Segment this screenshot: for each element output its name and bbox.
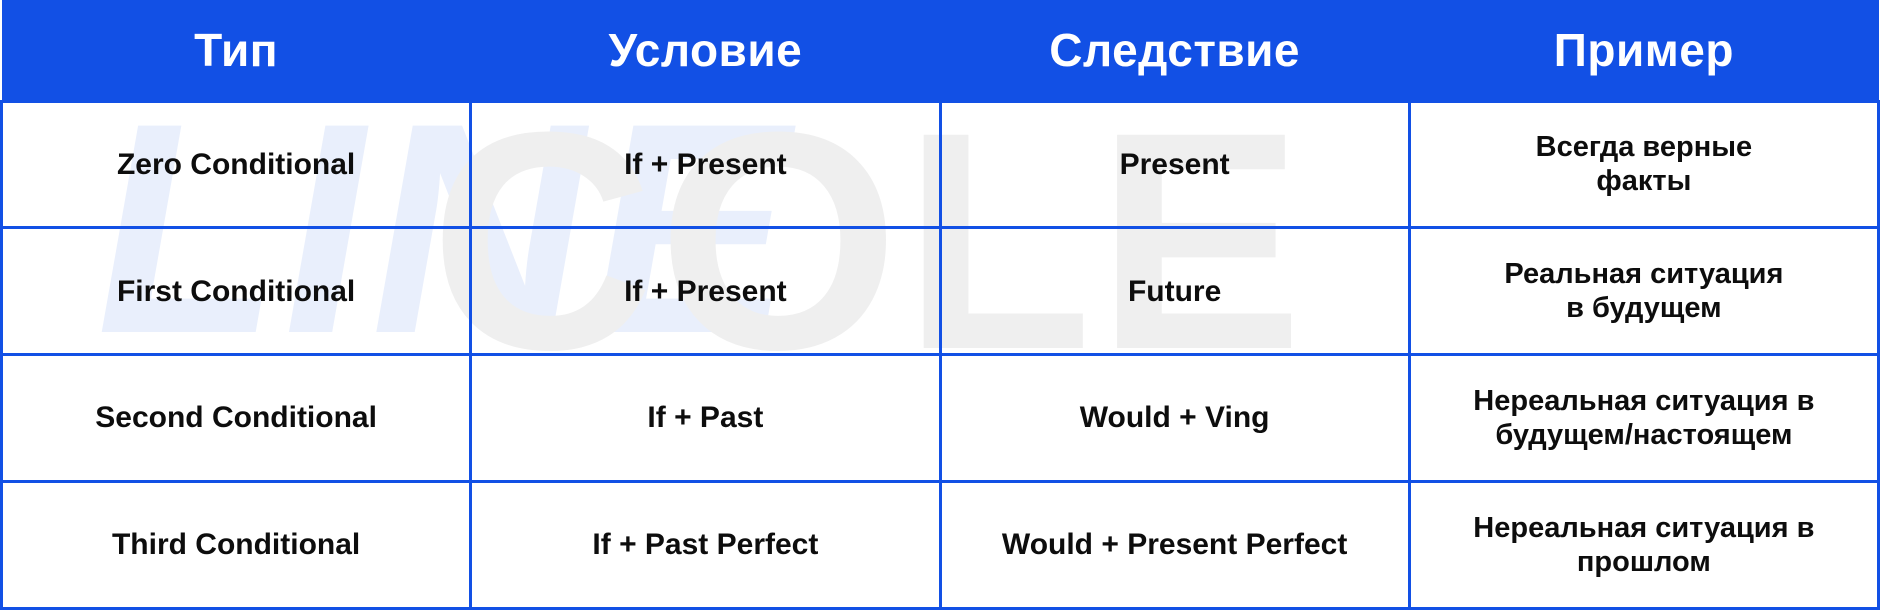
column-header-type: Тип (2, 0, 471, 101)
table-row: Second Conditional If + Past Would + Vin… (2, 355, 1879, 482)
cell-example-line-2: в будущем (1421, 291, 1867, 325)
cell-condition: If + Present (471, 228, 940, 355)
cell-example-line-2: прошлом (1421, 545, 1867, 579)
cell-type: Zero Conditional (2, 101, 471, 228)
table-header: Тип Условие Следствие Пример (2, 0, 1879, 101)
cell-example-line-1: Нереальная ситуация в (1421, 511, 1867, 545)
cell-type: Second Conditional (2, 355, 471, 482)
table-body: Zero Conditional If + Present Present Вс… (2, 101, 1879, 609)
cell-result: Would + Ving (940, 355, 1409, 482)
cell-example-line-1: Всегда верные (1421, 130, 1867, 164)
column-header-result: Следствие (940, 0, 1409, 101)
cell-type: First Conditional (2, 228, 471, 355)
column-header-condition: Условие (471, 0, 940, 101)
table-row: Third Conditional If + Past Perfect Woul… (2, 482, 1879, 609)
table-row: First Conditional If + Present Future Ре… (2, 228, 1879, 355)
cell-example: Всегда верные факты (1409, 101, 1878, 228)
table-row: Zero Conditional If + Present Present Вс… (2, 101, 1879, 228)
cell-example-line-1: Реальная ситуация (1421, 257, 1867, 291)
cell-result: Present (940, 101, 1409, 228)
table-container: Тип Условие Следствие Пример Zero Condit… (0, 0, 1880, 610)
cell-example-line-1: Нереальная ситуация в (1421, 384, 1867, 418)
header-row: Тип Условие Следствие Пример (2, 0, 1879, 101)
conditionals-table: Тип Условие Следствие Пример Zero Condit… (0, 0, 1880, 610)
column-header-example: Пример (1409, 0, 1878, 101)
cell-condition: If + Present (471, 101, 940, 228)
cell-example: Нереальная ситуация в прошлом (1409, 482, 1878, 609)
cell-example: Нереальная ситуация в будущем/настоящем (1409, 355, 1878, 482)
cell-result: Would + Present Perfect (940, 482, 1409, 609)
cell-example: Реальная ситуация в будущем (1409, 228, 1878, 355)
conditionals-table-page: LINE COLE Тип Условие Следствие Пример Z… (0, 0, 1880, 610)
cell-example-line-2: будущем/настоящем (1421, 418, 1867, 452)
cell-condition: If + Past Perfect (471, 482, 940, 609)
cell-condition: If + Past (471, 355, 940, 482)
cell-result: Future (940, 228, 1409, 355)
cell-type: Third Conditional (2, 482, 471, 609)
cell-example-line-2: факты (1421, 164, 1867, 198)
